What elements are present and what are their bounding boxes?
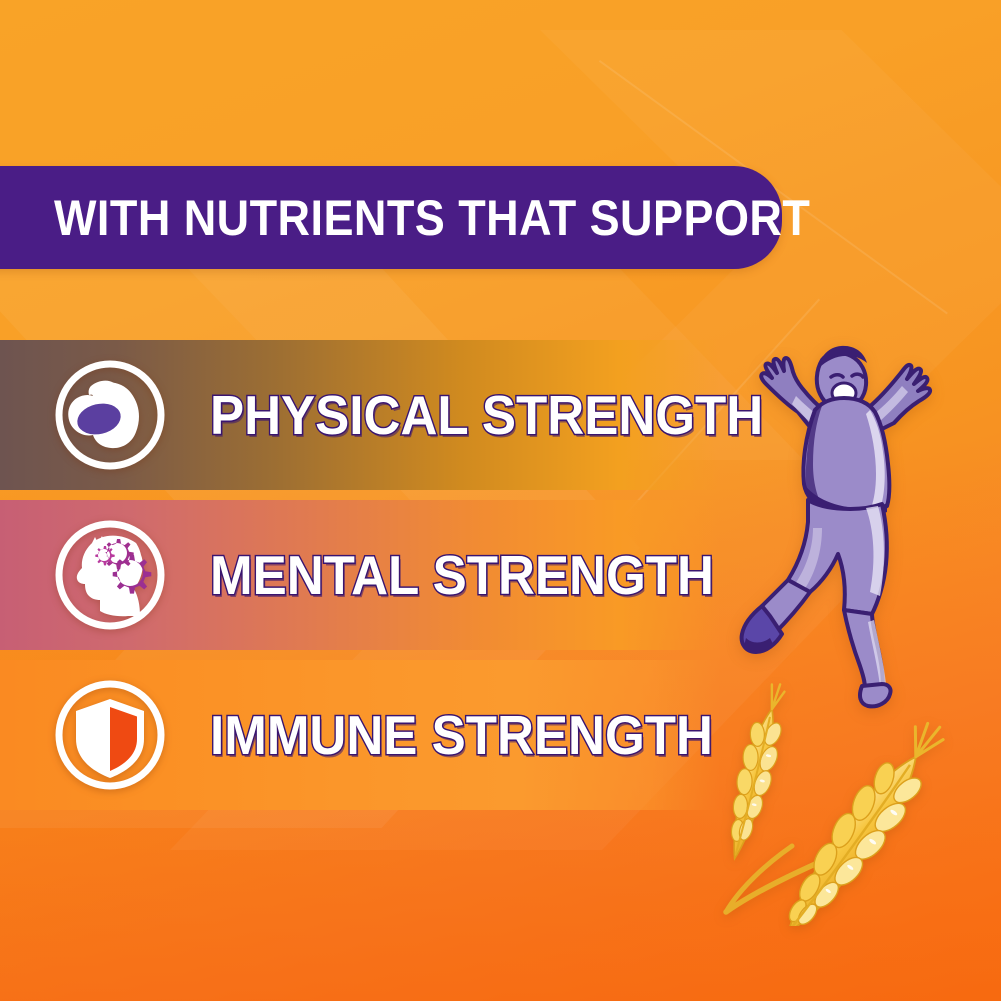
benefit-row-immune-strength: IMMUNE STRENGTH (0, 660, 720, 810)
wheat-stalks-illustration (700, 636, 1001, 926)
benefit-label-mental-strength: MENTAL STRENGTH (210, 548, 714, 603)
benefit-label-immune-strength: IMMUNE STRENGTH (210, 708, 713, 763)
head-with-gears-icon (48, 513, 172, 637)
benefit-row-mental-strength: MENTAL STRENGTH (0, 500, 720, 650)
flexed-bicep-icon (48, 353, 172, 477)
shield-icon (48, 673, 172, 797)
benefit-row-physical-strength: PHYSICAL STRENGTH (0, 340, 720, 490)
header-banner-text: WITH NUTRIENTS THAT SUPPORT (54, 193, 810, 243)
poster-canvas: WITH NUTRIENTS THAT SUPPORT PHYSICAL STR… (0, 0, 1001, 1001)
header-banner: WITH NUTRIENTS THAT SUPPORT (0, 166, 782, 269)
